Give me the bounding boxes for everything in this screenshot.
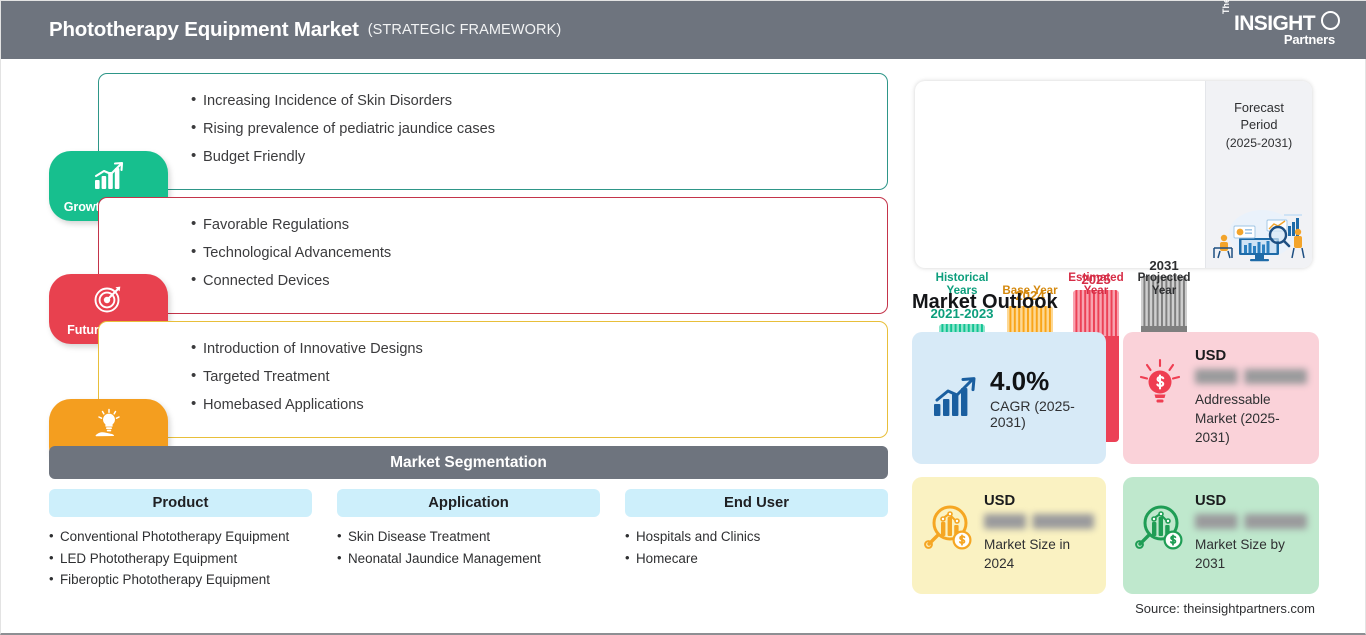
list-item: Homebased Applications (191, 391, 887, 419)
list-item: Neonatal Jaundice Management (337, 548, 600, 570)
source-attribution: Source: theinsightpartners.com (1135, 601, 1315, 616)
card-caption: Market Size by 2031 (1195, 535, 1307, 573)
logo-the-text: The (1221, 0, 1231, 14)
growth-drivers-list: Increasing Incidence of Skin Disorders R… (99, 74, 887, 171)
list-item: Connected Devices (191, 267, 887, 295)
redacted-value (1195, 514, 1307, 529)
left-column: Increasing Incidence of Skin Disorders R… (1, 59, 901, 635)
magnifier-bar-chart-dollar-icon (924, 503, 974, 555)
panel-opportunities: Introduction of Innovative Designs Targe… (98, 321, 888, 438)
forecast-line1: Forecast (1234, 100, 1284, 115)
bar-chart-arrow-icon (932, 376, 980, 420)
bar-caption: Projected Year (1124, 271, 1204, 298)
page-subtitle: (STRATEGIC FRAMEWORK) (368, 22, 562, 38)
segmentation-columns: Product Conventional Phototherapy Equipm… (49, 489, 888, 629)
list-item: Technological Advancements (191, 239, 887, 267)
list-item: Targeted Treatment (191, 363, 887, 391)
segment-header-product[interactable]: Product (49, 489, 312, 517)
cagr-caption: CAGR (2025-2031) (990, 398, 1094, 430)
logo-partners-text: Partners (1284, 32, 1335, 47)
lightbulb-hand-icon (92, 408, 126, 440)
logo-circle-icon (1321, 11, 1340, 30)
list-item: Hospitals and Clinics (625, 526, 888, 548)
target-arrow-icon (92, 283, 126, 315)
segment-header-end-user[interactable]: End User (625, 489, 888, 517)
outlook-card-market-size-2024[interactable]: USD Market Size in 2024 (912, 477, 1106, 594)
magnifier-bar-chart-dollar-icon (1135, 503, 1185, 555)
page-title: Phototherapy Equipment Market (49, 18, 359, 42)
segment-header-label: Application (428, 495, 509, 511)
currency-label: USD (1195, 348, 1307, 364)
market-segmentation-title: Market Segmentation (390, 454, 547, 472)
segmentation-column-end-user: End User Hospitals and Clinics Homecare (625, 489, 888, 629)
segmentation-column-product: Product Conventional Phototherapy Equipm… (49, 489, 312, 629)
bar-chart-growth-icon (92, 160, 126, 192)
list-item: Introduction of Innovative Designs (191, 335, 887, 363)
infographic-root: Phototherapy Equipment Market (STRATEGIC… (0, 0, 1366, 635)
insight-partners-logo: The INSIGHT Partners (1221, 10, 1341, 52)
outlook-card-cagr[interactable]: 4.0% CAGR (2025-2031) (912, 332, 1106, 464)
segmentation-column-application: Application Skin Disease Treatment Neona… (337, 489, 600, 629)
card-caption: Addressable Market (2025-2031) (1195, 390, 1307, 447)
redacted-value (1195, 369, 1307, 384)
segment-header-application[interactable]: Application (337, 489, 600, 517)
list-item: Favorable Regulations (191, 211, 887, 239)
list-item: Fiberoptic Phototherapy Equipment (49, 569, 312, 591)
lightbulb-dollar-icon (1135, 358, 1185, 410)
redacted-value (984, 514, 1094, 529)
panel-growth-drivers: Increasing Incidence of Skin Disorders R… (98, 73, 888, 190)
list-item: Rising prevalence of pediatric jaundice … (191, 115, 887, 143)
cagr-value: 4.0% (990, 367, 1094, 395)
opportunities-list: Introduction of Innovative Designs Targe… (99, 322, 887, 419)
outlook-card-addressable-market[interactable]: USD Addressable Market (2025-2031) (1123, 332, 1319, 464)
market-timeline-card: 2021-2023 Historical Years (915, 81, 1312, 268)
list-item: Conventional Phototherapy Equipment (49, 526, 312, 548)
market-segmentation-header: Market Segmentation (49, 446, 888, 479)
list-item: LED Phototherapy Equipment (49, 548, 312, 570)
forecast-period-text: Forecast Period (2025-2031) (1206, 99, 1312, 152)
analytics-illustration (1210, 200, 1309, 262)
card-caption: Market Size in 2024 (984, 535, 1094, 573)
panel-future-trends: Favorable Regulations Technological Adva… (98, 197, 888, 314)
currency-label: USD (1195, 493, 1307, 509)
forecast-line2: Period (1241, 117, 1278, 132)
forecast-years: (2025-2031) (1206, 135, 1312, 152)
timeline-bars: 2021-2023 Historical Years (915, 81, 1205, 268)
segment-header-label: Product (153, 495, 209, 511)
currency-label: USD (984, 493, 1094, 509)
header-bar: Phototherapy Equipment Market (STRATEGIC… (1, 1, 1366, 59)
future-trends-list: Favorable Regulations Technological Adva… (99, 198, 887, 295)
list-item: Homecare (625, 548, 888, 570)
list-item: Skin Disease Treatment (337, 526, 600, 548)
list-item: Increasing Incidence of Skin Disorders (191, 87, 887, 115)
list-item: Budget Friendly (191, 143, 887, 171)
forecast-period-panel: Forecast Period (2025-2031) (1205, 81, 1312, 268)
outlook-card-market-size-2031[interactable]: USD Market Size by 2031 (1123, 477, 1319, 594)
market-outlook-title: Market Outlook (912, 291, 1058, 314)
segment-header-label: End User (724, 495, 789, 511)
